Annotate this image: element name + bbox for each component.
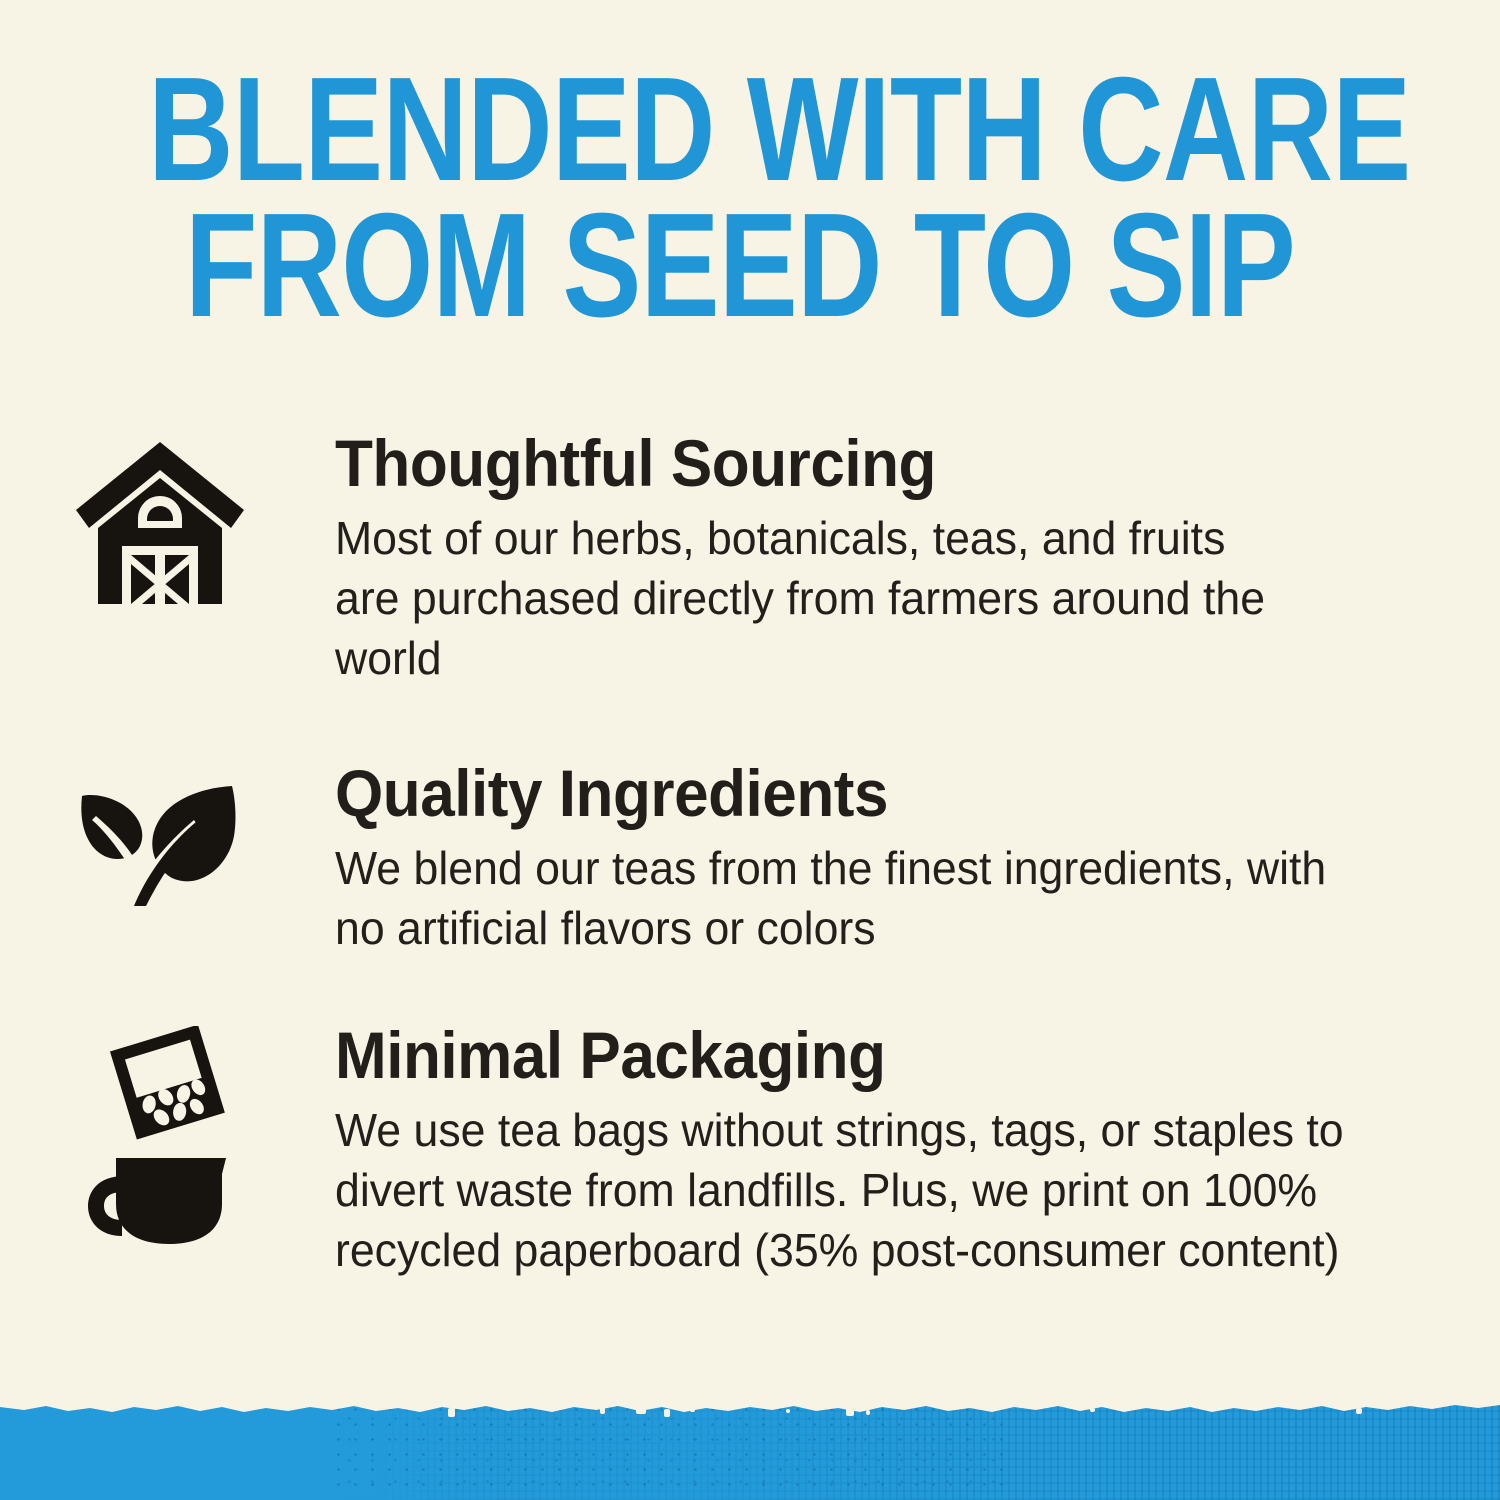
infographic-page: BLENDED WITH CARE FROM SEED TO SIP — [0, 0, 1500, 1500]
barn-icon — [72, 436, 248, 612]
leaves-icon — [72, 782, 248, 910]
feature-list: Thoughtful Sourcing Most of our herbs, b… — [0, 430, 1500, 1280]
band-torn-edge — [0, 1400, 1500, 1425]
feature-body: We use tea bags without strings, tags, o… — [335, 1100, 1378, 1280]
feature-title: Quality Ingredients — [335, 760, 1346, 826]
teabag-mug-icon-cell — [72, 1022, 335, 1246]
teabag-mug-icon — [72, 1026, 262, 1246]
leaves-icon-cell — [72, 760, 335, 910]
barn-icon-cell — [72, 430, 335, 612]
feature-body: We blend our teas from the finest ingred… — [335, 838, 1363, 958]
feature-title: Thoughtful Sourcing — [335, 430, 1346, 496]
feature-text-cell: Minimal Packaging We use tea bags withou… — [335, 1022, 1500, 1280]
feature-text-cell: Quality Ingredients We blend our teas fr… — [335, 760, 1500, 958]
bottom-blue-band — [0, 1400, 1500, 1500]
page-headline: BLENDED WITH CARE FROM SEED TO SIP — [148, 62, 1332, 334]
feature-thoughtful-sourcing: Thoughtful Sourcing Most of our herbs, b… — [0, 430, 1500, 688]
feature-quality-ingredients: Quality Ingredients We blend our teas fr… — [0, 760, 1500, 958]
feature-minimal-packaging: Minimal Packaging We use tea bags withou… — [0, 1022, 1500, 1280]
headline-line-2: FROM SEED TO SIP — [148, 198, 1332, 334]
feature-text-cell: Thoughtful Sourcing Most of our herbs, b… — [335, 430, 1500, 688]
headline-line-1: BLENDED WITH CARE — [148, 62, 1332, 198]
feature-title: Minimal Packaging — [335, 1022, 1346, 1088]
feature-body: Most of our herbs, botanicals, teas, and… — [335, 508, 1266, 688]
